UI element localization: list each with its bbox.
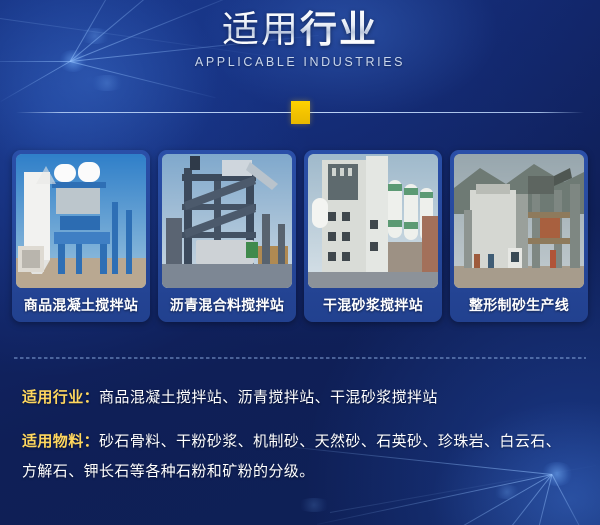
industry-card[interactable]: 干混砂浆搅拌站 xyxy=(304,150,442,322)
industry-card[interactable]: 整形制砂生产线 xyxy=(450,150,588,322)
section-separator xyxy=(14,357,586,359)
spec-row-materials: 适用物料：砂石骨料、干粉砂浆、机制砂、天然砂、石英砂、珍珠岩、白云石、 方解石、… xyxy=(22,426,582,486)
spec-line-continued: 方解石、钾长石等各种石粉和矿粉的分级。 xyxy=(22,456,582,486)
industry-card-list: 商品混凝土搅拌站 xyxy=(0,150,600,325)
spec-list: 适用行业：商品混凝土搅拌站、沥青搅拌站、干混砂浆搅拌站 适用物料：砂石骨料、干粉… xyxy=(22,382,582,500)
industry-card-caption: 商品混凝土搅拌站 xyxy=(16,288,146,322)
page-title-bold: 行业 xyxy=(300,8,378,51)
industry-card[interactable]: 商品混凝土搅拌站 xyxy=(12,150,150,322)
spec-label: 适用物料： xyxy=(22,432,99,450)
spec-value: 商品混凝土搅拌站、沥青搅拌站、干混砂浆搅拌站 xyxy=(99,388,438,406)
spec-value-line2: 方解石、钾长石等各种石粉和矿粉的分级。 xyxy=(22,462,315,480)
spec-line: 适用物料：砂石骨料、干粉砂浆、机制砂、天然砂、石英砂、珍珠岩、白云石、 xyxy=(22,426,582,456)
industry-card[interactable]: 沥青混合料搅拌站 xyxy=(158,150,296,322)
banner-header: 适用行业 APPLICABLE INDUSTRIES xyxy=(0,0,600,69)
sand-making-line-photo xyxy=(454,154,584,288)
concrete-mixing-plant-photo xyxy=(16,154,146,288)
applicable-industries-banner: 适用行业 APPLICABLE INDUSTRIES xyxy=(0,0,600,525)
node-bottom-center xyxy=(296,498,332,512)
divider-marker-square xyxy=(291,101,310,124)
spec-label: 适用行业： xyxy=(22,388,99,406)
header-divider xyxy=(0,100,600,126)
page-title-light: 适用 xyxy=(222,8,300,51)
industry-card-caption: 干混砂浆搅拌站 xyxy=(308,288,438,322)
industry-card-caption: 沥青混合料搅拌站 xyxy=(162,288,292,322)
asphalt-mixing-plant-photo xyxy=(162,154,292,288)
dry-mortar-mixing-plant-photo xyxy=(308,154,438,288)
industry-card-caption: 整形制砂生产线 xyxy=(454,288,584,322)
spec-row-industries: 适用行业：商品混凝土搅拌站、沥青搅拌站、干混砂浆搅拌站 xyxy=(22,382,582,412)
spec-line: 适用行业：商品混凝土搅拌站、沥青搅拌站、干混砂浆搅拌站 xyxy=(22,382,582,412)
spec-value: 砂石骨料、干粉砂浆、机制砂、天然砂、石英砂、珍珠岩、白云石、 xyxy=(99,432,561,450)
node-top-left-small-2 xyxy=(88,75,126,91)
page-subtitle: APPLICABLE INDUSTRIES xyxy=(0,55,600,69)
page-title: 适用行业 xyxy=(0,9,600,51)
